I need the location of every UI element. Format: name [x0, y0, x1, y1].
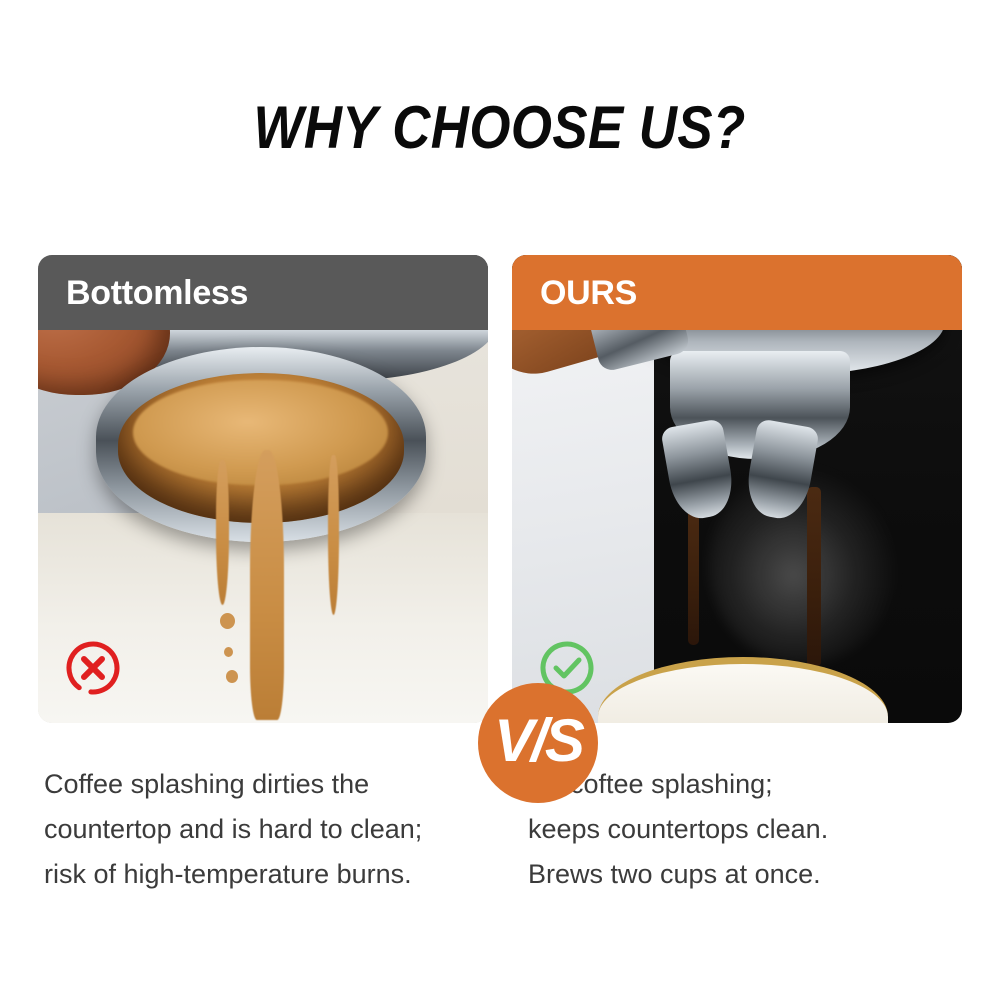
caption-line: Coffee splashing dirties the: [44, 762, 504, 807]
versus-badge: V/S: [478, 683, 598, 803]
card-header-label: OURS: [540, 276, 637, 310]
photo-coffee-pour-left: [688, 505, 699, 645]
comparison-row: Bottomless: [38, 255, 962, 723]
card-header-bottomless: Bottomless: [38, 255, 488, 330]
card-header-ours: OURS: [512, 255, 962, 330]
photo-coffee-drop: [220, 613, 235, 629]
caption-bottomless: Coffee splashing dirties the countertop …: [44, 762, 504, 897]
photo-coffee-stream-left: [216, 460, 229, 605]
page-title: WHY CHOOSE US?: [254, 96, 746, 159]
comparison-card-bottomless[interactable]: Bottomless: [38, 255, 488, 723]
cross-circle-icon: [64, 639, 122, 697]
caption-line: risk of high-temperature burns.: [44, 852, 504, 897]
photo-coffee-stream-main: [250, 450, 284, 720]
caption-line: countertop and is hard to clean;: [44, 807, 504, 852]
page-title-wrap: WHY CHOOSE US?: [0, 96, 1000, 159]
versus-badge-label: V/S: [494, 711, 582, 771]
caption-line: Brews two cups at once.: [528, 852, 964, 897]
comparison-page: WHY CHOOSE US? Bottomless: [0, 0, 1000, 1000]
photo-coffee-stream-right: [328, 455, 339, 615]
caption-line: keeps countertops clean.: [528, 807, 964, 852]
caption-line: No coftee splashing;: [528, 762, 964, 807]
photo-coffee-drop: [224, 647, 233, 657]
card-header-label: Bottomless: [66, 276, 248, 310]
photo-coffee-pour-right: [807, 487, 821, 667]
photo-coffee-drop: [226, 670, 238, 683]
comparison-card-ours[interactable]: OURS: [512, 255, 962, 723]
